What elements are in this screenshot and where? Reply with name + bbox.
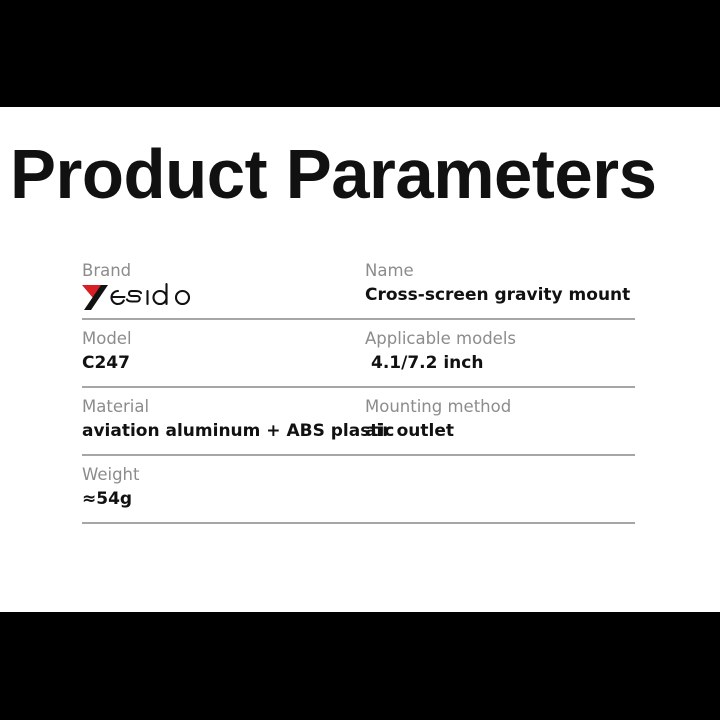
spec-table: Brand bbox=[82, 252, 635, 524]
spec-value-material: aviation aluminum + ABS plastic bbox=[82, 419, 357, 444]
letterbox-bottom bbox=[0, 612, 720, 720]
spec-cell-mounting-method: Mounting method air outlet bbox=[365, 388, 635, 454]
spec-label-applicable-models: Applicable models bbox=[365, 328, 635, 350]
yesido-logo bbox=[81, 284, 197, 308]
spec-value-weight: ≈54g bbox=[82, 487, 357, 512]
spec-cell-empty bbox=[365, 456, 635, 475]
spec-cell-applicable-models: Applicable models 4.1/7.2 inch bbox=[365, 320, 635, 386]
page-title: Product Parameters bbox=[10, 137, 705, 211]
spec-row-brand-name: Brand bbox=[82, 252, 635, 320]
spec-row-model-applicable: Model C247 Applicable models 4.1/7.2 inc… bbox=[82, 320, 635, 388]
spec-value-brand bbox=[82, 284, 357, 308]
spec-label-mounting-method: Mounting method bbox=[365, 396, 635, 418]
spec-cell-name: Name Cross-screen gravity mount bbox=[365, 252, 635, 318]
letterbox-top bbox=[0, 0, 720, 107]
spec-value-model: C247 bbox=[82, 351, 357, 376]
spec-cell-material: Material aviation aluminum + ABS plastic bbox=[82, 388, 365, 454]
spec-label-name: Name bbox=[365, 260, 635, 282]
spec-label-brand: Brand bbox=[82, 260, 357, 282]
spec-row-material-mounting: Material aviation aluminum + ABS plastic… bbox=[82, 388, 635, 456]
spec-value-name: Cross-screen gravity mount bbox=[365, 283, 635, 308]
spec-cell-weight: Weight ≈54g bbox=[82, 456, 365, 522]
spec-row-weight: Weight ≈54g bbox=[82, 456, 635, 524]
spec-cell-model: Model C247 bbox=[82, 320, 365, 386]
spec-label-weight: Weight bbox=[82, 464, 357, 486]
yesido-wordmark-icon bbox=[81, 281, 197, 311]
spec-value-mounting-method: air outlet bbox=[365, 419, 635, 444]
spec-value-applicable-models: 4.1/7.2 inch bbox=[365, 351, 635, 376]
screenshot-root: Product Parameters Brand bbox=[0, 0, 720, 720]
spec-label-model: Model bbox=[82, 328, 357, 350]
spec-label-material: Material bbox=[82, 396, 357, 418]
product-parameters-panel: Product Parameters Brand bbox=[0, 107, 720, 612]
spec-cell-brand: Brand bbox=[82, 252, 365, 318]
